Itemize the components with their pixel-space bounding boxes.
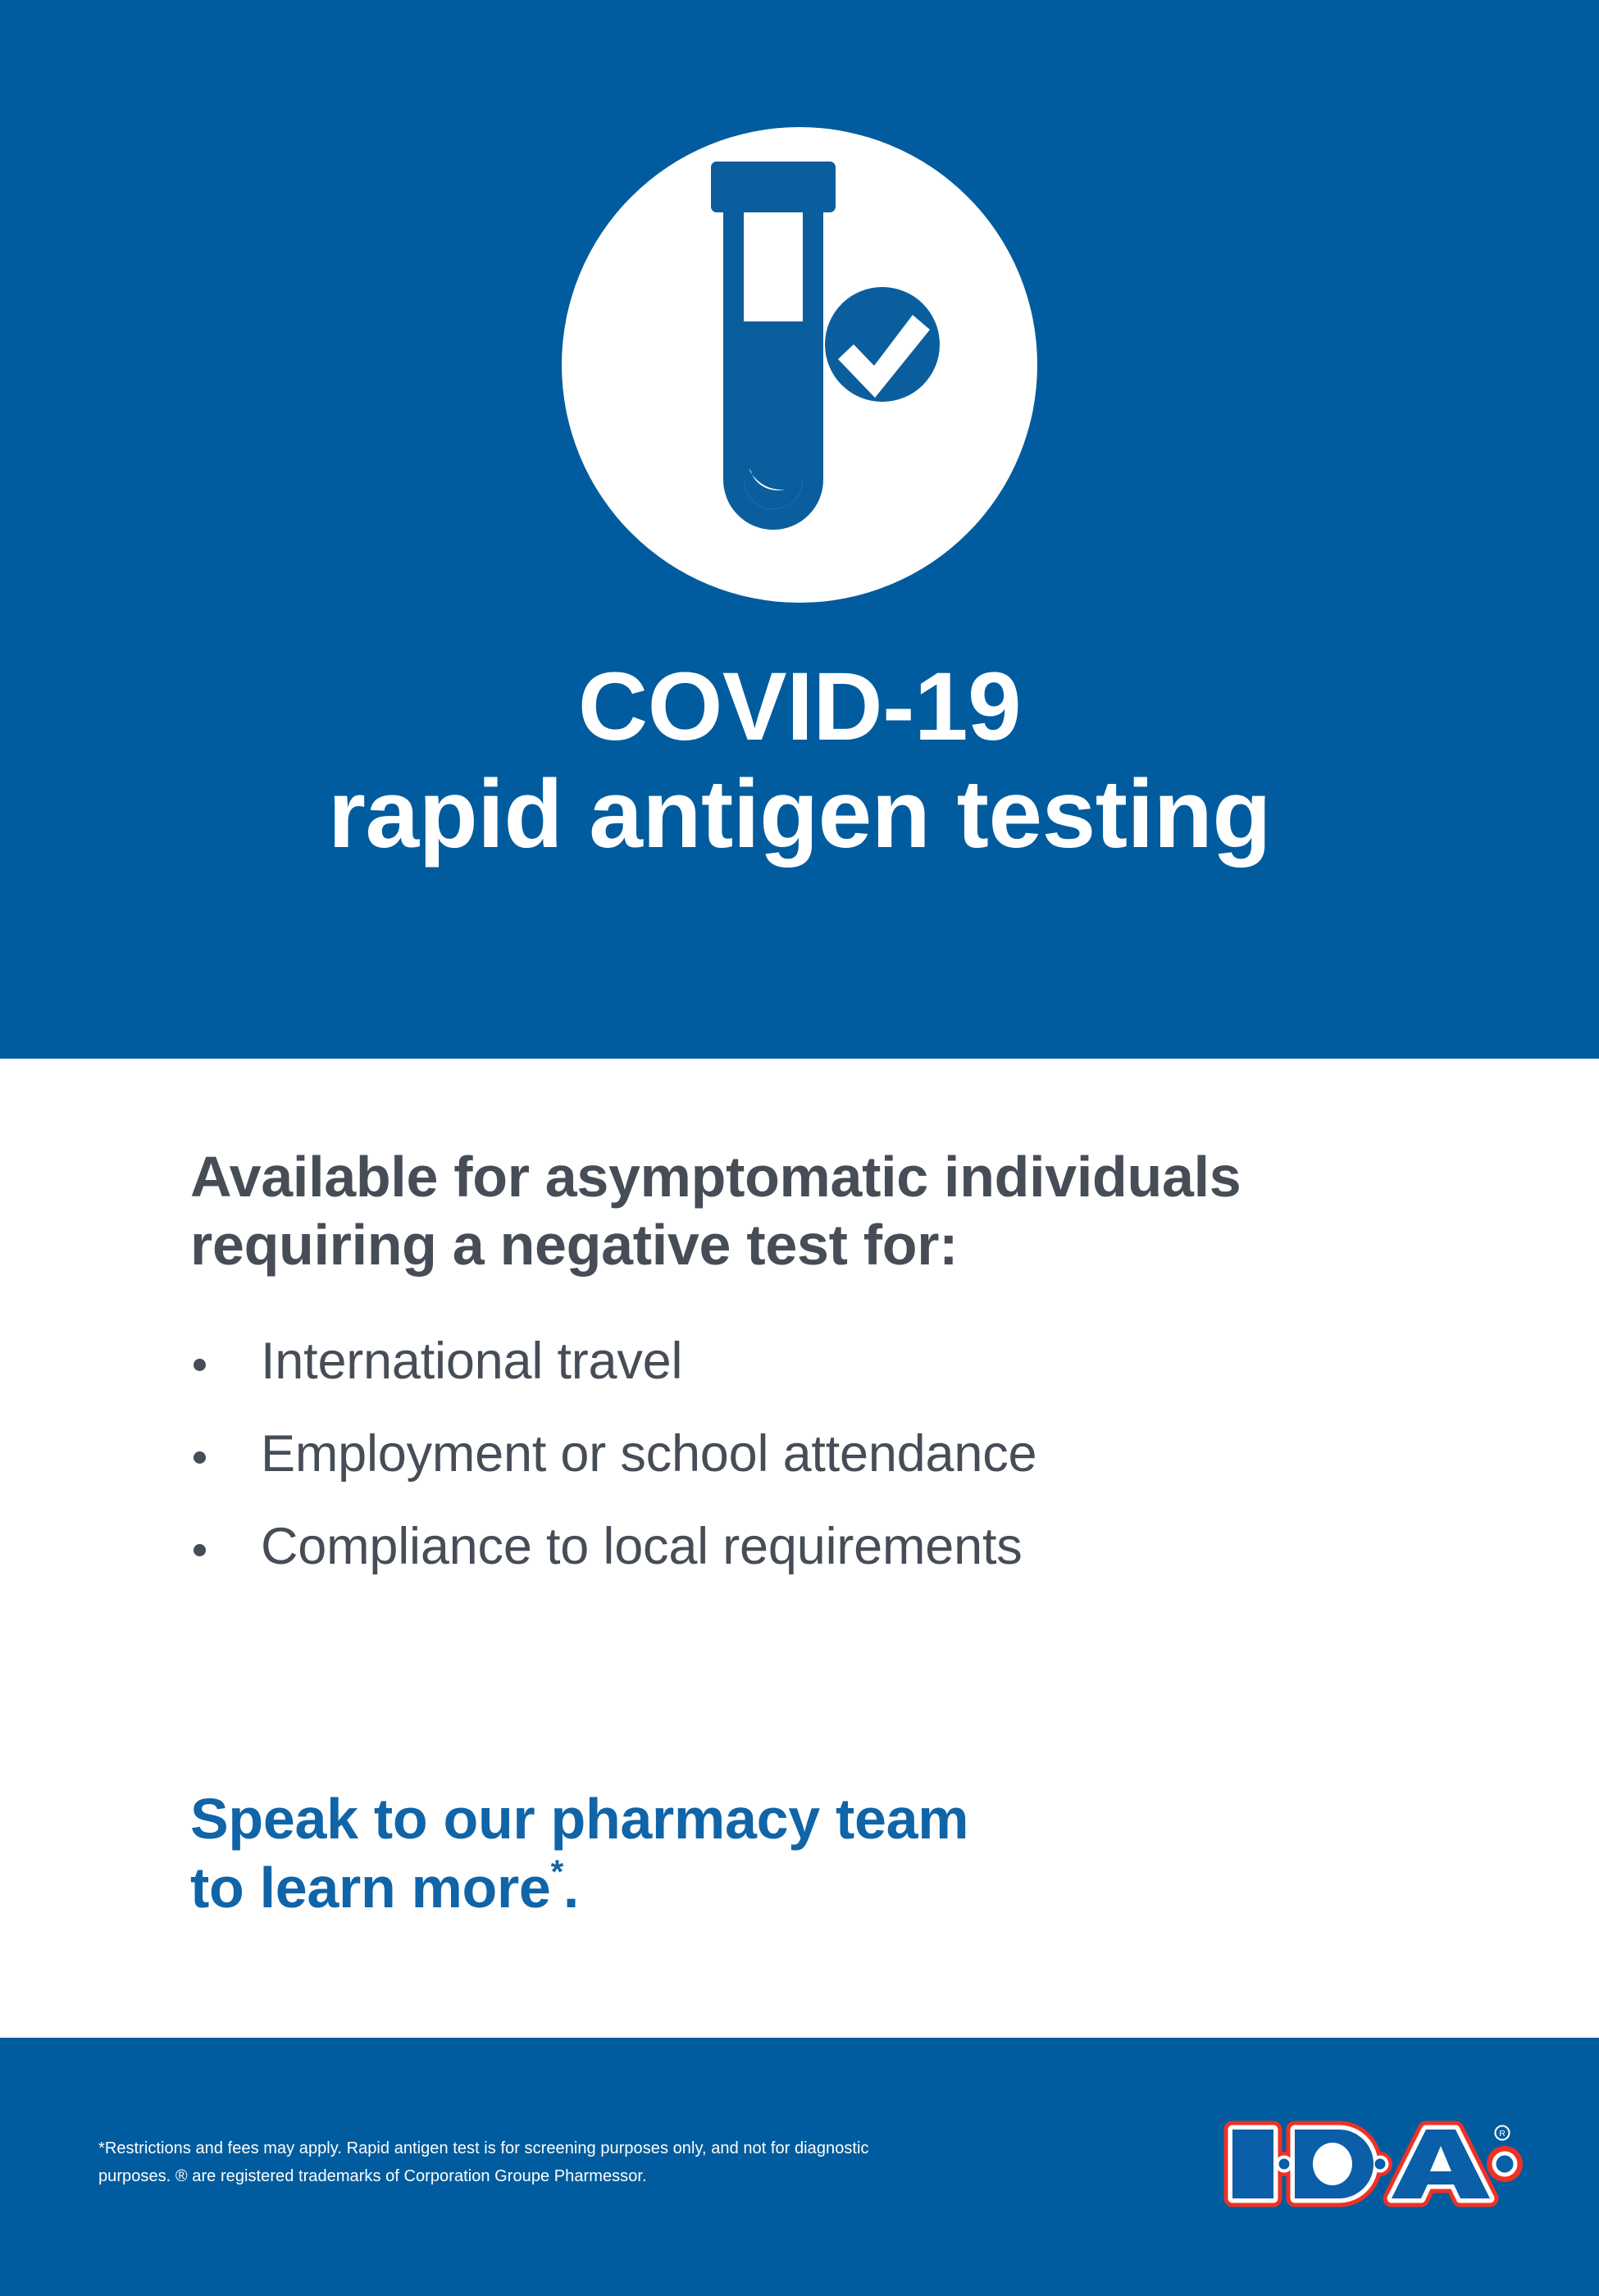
svg-text:R: R bbox=[1499, 2129, 1506, 2139]
poster-root: COVID-19 rapid antigen testing Available… bbox=[0, 0, 1599, 2296]
list-item-label: Employment or school attendance bbox=[261, 1425, 1036, 1483]
subheading-line-2: requiring a negative test for: bbox=[190, 1211, 1469, 1279]
eligibility-list: International travel Employment or schoo… bbox=[190, 1336, 1502, 1614]
title-line-1: COVID-19 bbox=[0, 656, 1599, 758]
ida-pharmacy-logo: R bbox=[1219, 2120, 1531, 2218]
bullet-dot-icon bbox=[194, 1544, 206, 1556]
footer-band: *Restrictions and fees may apply. Rapid … bbox=[0, 2038, 1599, 2296]
cta-asterisk: * bbox=[551, 1854, 563, 1890]
disclaimer-text: *Restrictions and fees may apply. Rapid … bbox=[98, 2134, 943, 2191]
list-item: International travel bbox=[190, 1336, 1502, 1387]
header-band: COVID-19 rapid antigen testing bbox=[0, 0, 1599, 1059]
call-to-action: Speak to our pharmacy team to learn more… bbox=[190, 1784, 1420, 1922]
cta-line-2: to learn more*. bbox=[190, 1853, 1420, 1922]
subheading-line-1: Available for asymptomatic individuals bbox=[190, 1143, 1469, 1211]
body-section: Available for asymptomatic individuals r… bbox=[0, 1059, 1599, 2038]
registered-mark-icon: R bbox=[1496, 2126, 1510, 2140]
list-item: Compliance to local requirements bbox=[190, 1521, 1502, 1573]
cta-line-2-text: to learn more bbox=[190, 1856, 551, 1920]
subheading: Available for asymptomatic individuals r… bbox=[190, 1143, 1469, 1278]
list-item: Employment or school attendance bbox=[190, 1428, 1502, 1480]
header-title: COVID-19 rapid antigen testing bbox=[0, 656, 1599, 866]
bullet-dot-icon bbox=[194, 1359, 206, 1371]
disclaimer-line-2: purposes. ® are registered trademarks of… bbox=[98, 2162, 943, 2190]
cta-period: . bbox=[563, 1856, 579, 1920]
hero-icon bbox=[562, 127, 1037, 603]
title-line-2: rapid antigen testing bbox=[0, 763, 1599, 866]
list-item-label: International travel bbox=[261, 1332, 682, 1390]
list-item-label: Compliance to local requirements bbox=[261, 1518, 1023, 1575]
disclaimer-line-1: *Restrictions and fees may apply. Rapid … bbox=[98, 2134, 943, 2162]
cta-line-1: Speak to our pharmacy team bbox=[190, 1784, 1420, 1853]
bullet-dot-icon bbox=[194, 1451, 206, 1464]
ida-logo-icon: R bbox=[1219, 2120, 1531, 2218]
test-tube-check-icon bbox=[562, 127, 1037, 603]
